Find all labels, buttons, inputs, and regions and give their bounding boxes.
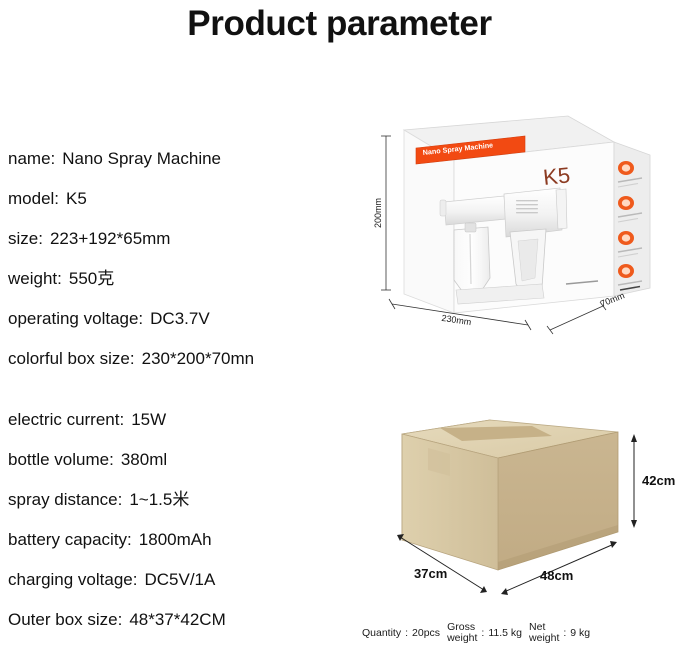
spec-value: 380ml (121, 450, 167, 469)
spec-value: K5 (66, 189, 87, 208)
spec-row: Outer box size:48*37*42CM (8, 600, 360, 640)
spec-label: battery capacity: (8, 530, 132, 549)
shipping-gross-weight-separator: : (481, 627, 484, 639)
shipping-quantity-value: 20pcs (412, 627, 440, 639)
spec-label: operating voltage: (8, 309, 143, 328)
spec-row: operating voltage:DC3.7V (8, 299, 360, 339)
carton-dimension-width-label: 48cm (540, 568, 573, 583)
spec-row: charging voltage:DC5V/1A (8, 560, 360, 600)
shipping-net-weight-value: 9 kg (570, 627, 590, 639)
spec-row: bottle volume:380ml (8, 440, 360, 480)
shipping-gross-weight-value: 11.5 kg (488, 627, 522, 639)
carton-box-illustration: 42cm 37cm 48cm (370, 392, 675, 607)
spec-list-secondary: electric current:15W bottle volume:380ml… (8, 400, 360, 640)
shipping-gross-weight-label-line2: weight (447, 633, 477, 644)
shipping-gross-weight-label: Gross weight (447, 622, 477, 644)
spec-value: DC5V/1A (144, 570, 215, 589)
spec-list-primary: name:Nano Spray Machine model:K5 size:22… (8, 139, 360, 379)
spec-value: DC3.7V (150, 309, 210, 328)
spec-row: name:Nano Spray Machine (8, 139, 360, 179)
spec-value: 1~1.5米 (129, 490, 189, 509)
retail-box-model-badge: K5 (542, 162, 571, 190)
spec-row: size:223+192*65mm (8, 219, 360, 259)
spec-label: Outer box size: (8, 610, 122, 629)
shipping-net-weight-separator: : (563, 627, 566, 639)
spec-label: name: (8, 149, 55, 168)
product-parameter-page: Product parameter name:Nano Spray Machin… (0, 0, 679, 655)
shipping-net-weight-label: Net weight (529, 622, 559, 644)
spec-row: model:K5 (8, 179, 360, 219)
spec-label: charging voltage: (8, 570, 137, 589)
spec-row: electric current:15W (8, 400, 360, 440)
carton-dimension-height-label: 42cm (642, 473, 675, 488)
shipping-net-weight: Net weight : 9 kg (529, 622, 590, 644)
spec-value: 1800mAh (139, 530, 212, 549)
spec-row: spray distance:1~1.5米 (8, 480, 360, 520)
shipping-summary: Quantity : 20pcs Gross weight : 11.5 kg … (362, 622, 676, 644)
shipping-net-weight-label-line2: weight (529, 633, 559, 644)
retail-dimension-height-label: 200mm (373, 198, 383, 228)
spec-value: 48*37*42CM (129, 610, 225, 629)
spec-row: colorful box size:230*200*70mn (8, 339, 360, 379)
spec-row: weight:550克 (8, 259, 360, 299)
carton-dimension-height (631, 434, 637, 528)
spec-label: bottle volume: (8, 450, 114, 469)
shipping-gross-weight: Gross weight : 11.5 kg (447, 622, 522, 644)
shipping-quantity-separator: : (405, 627, 408, 639)
spec-label: spray distance: (8, 490, 122, 509)
spec-value: 15W (131, 410, 166, 429)
spec-label: electric current: (8, 410, 124, 429)
spec-label: model: (8, 189, 59, 208)
carton-dimension-depth-label: 37cm (414, 566, 447, 581)
spec-label: colorful box size: (8, 349, 135, 368)
spec-value: 550克 (69, 269, 114, 288)
spec-label: weight: (8, 269, 62, 288)
spec-value: Nano Spray Machine (62, 149, 221, 168)
spec-row: battery capacity:1800mAh (8, 520, 360, 560)
page-title: Product parameter (0, 4, 679, 44)
shipping-quantity: Quantity : 20pcs (362, 627, 440, 639)
spec-value: 230*200*70mn (142, 349, 254, 368)
shipping-quantity-label: Quantity (362, 627, 401, 639)
retail-dimension-depth (547, 302, 606, 334)
spec-label: size: (8, 229, 43, 248)
retail-box-illustration: Nano Spray Machine K5 (370, 108, 675, 348)
retail-dimension-width-label: 230mm (441, 313, 472, 327)
spec-value: 223+192*65mm (50, 229, 171, 248)
